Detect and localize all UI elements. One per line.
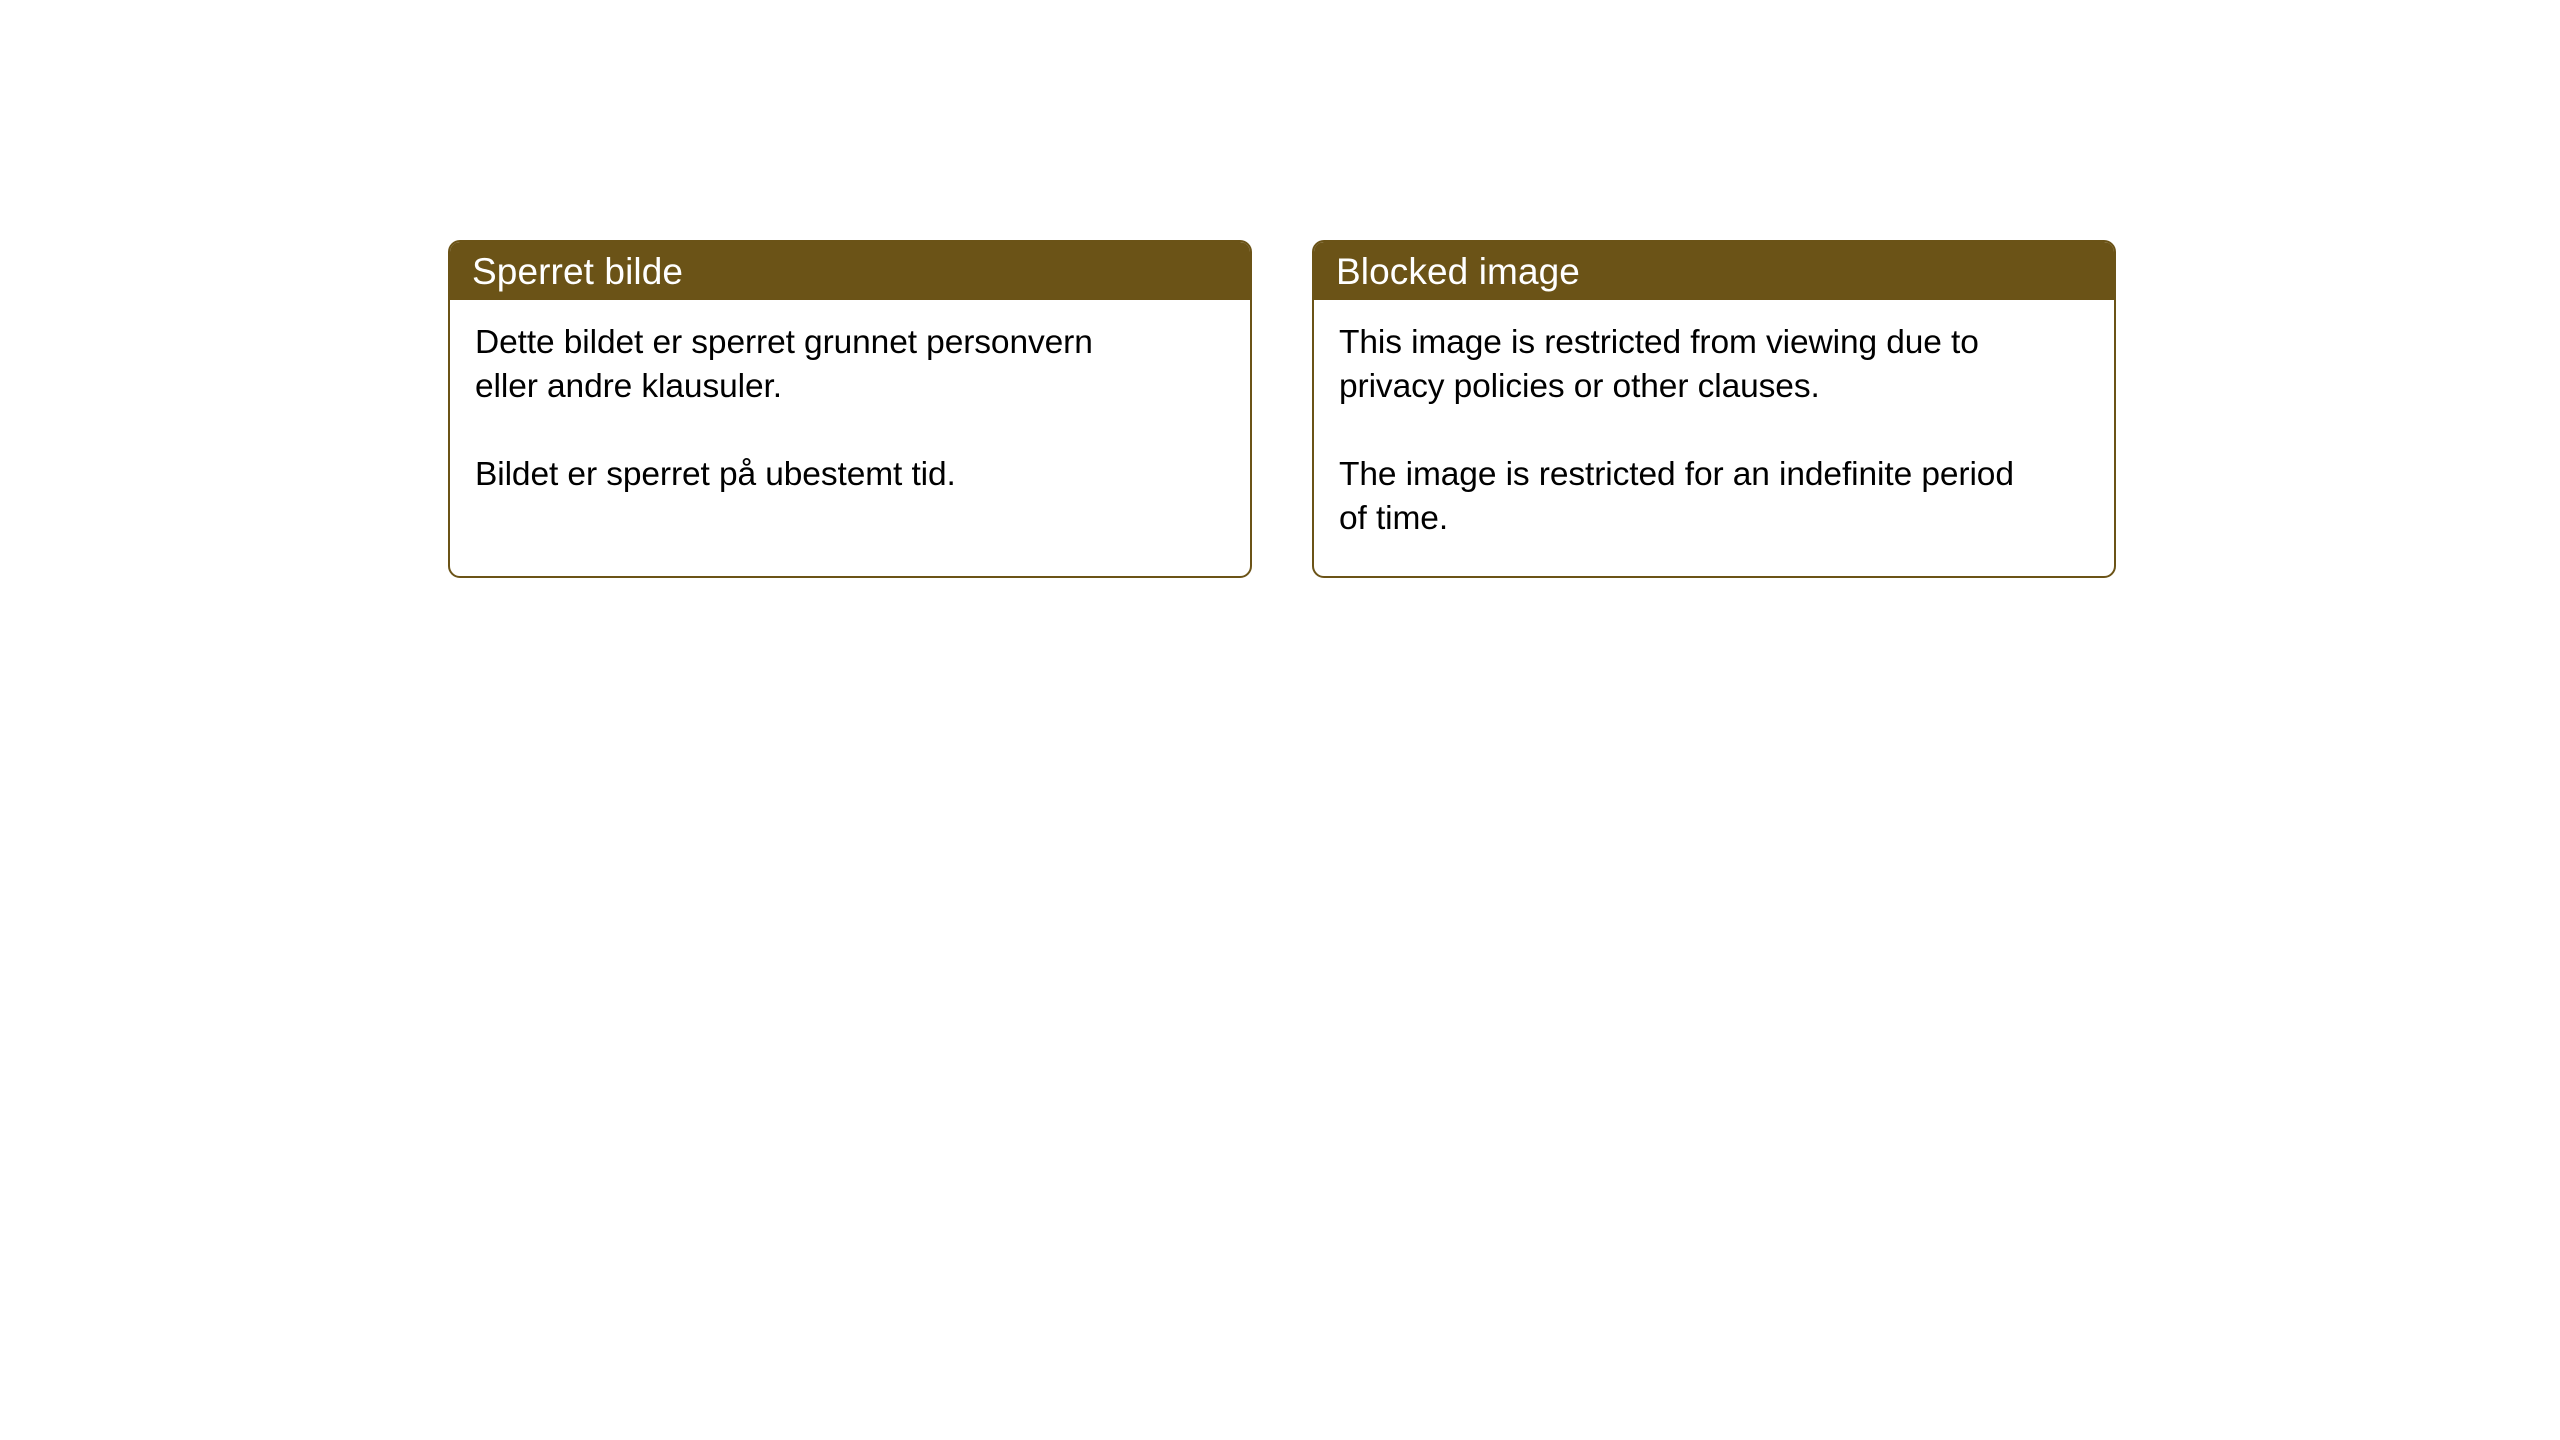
card-title-english: Blocked image	[1336, 253, 1580, 290]
blocked-image-notice-english: Blocked image This image is restricted f…	[1312, 240, 2116, 578]
card-paragraph-duration-norwegian: Bildet er sperret på ubestemt tid.	[475, 453, 1224, 497]
card-header-norwegian: Sperret bilde	[450, 242, 1250, 300]
card-title-norwegian: Sperret bilde	[472, 253, 683, 290]
card-paragraph-reason-norwegian: Dette bildet er sperret grunnet personve…	[475, 321, 1224, 409]
card-body-norwegian: Dette bildet er sperret grunnet personve…	[450, 300, 1250, 497]
card-body-english: This image is restricted from viewing du…	[1314, 300, 2114, 541]
page-canvas: Sperret bilde Dette bildet er sperret gr…	[0, 0, 2560, 1440]
card-header-english: Blocked image	[1314, 242, 2114, 300]
card-paragraph-duration-english: The image is restricted for an indefinit…	[1339, 453, 2088, 541]
blocked-image-notice-norwegian: Sperret bilde Dette bildet er sperret gr…	[448, 240, 1252, 578]
card-paragraph-reason-english: This image is restricted from viewing du…	[1339, 321, 2088, 409]
